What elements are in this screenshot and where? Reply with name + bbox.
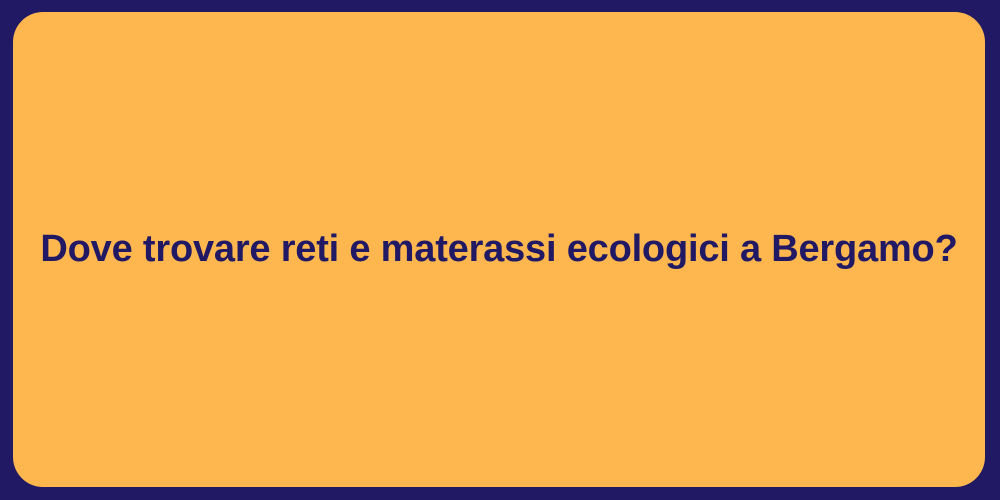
page-title: Dove trovare reti e materassi ecologici …: [40, 226, 957, 274]
banner-container: Dove trovare reti e materassi ecologici …: [0, 0, 1000, 500]
content-panel: Dove trovare reti e materassi ecologici …: [13, 12, 985, 487]
